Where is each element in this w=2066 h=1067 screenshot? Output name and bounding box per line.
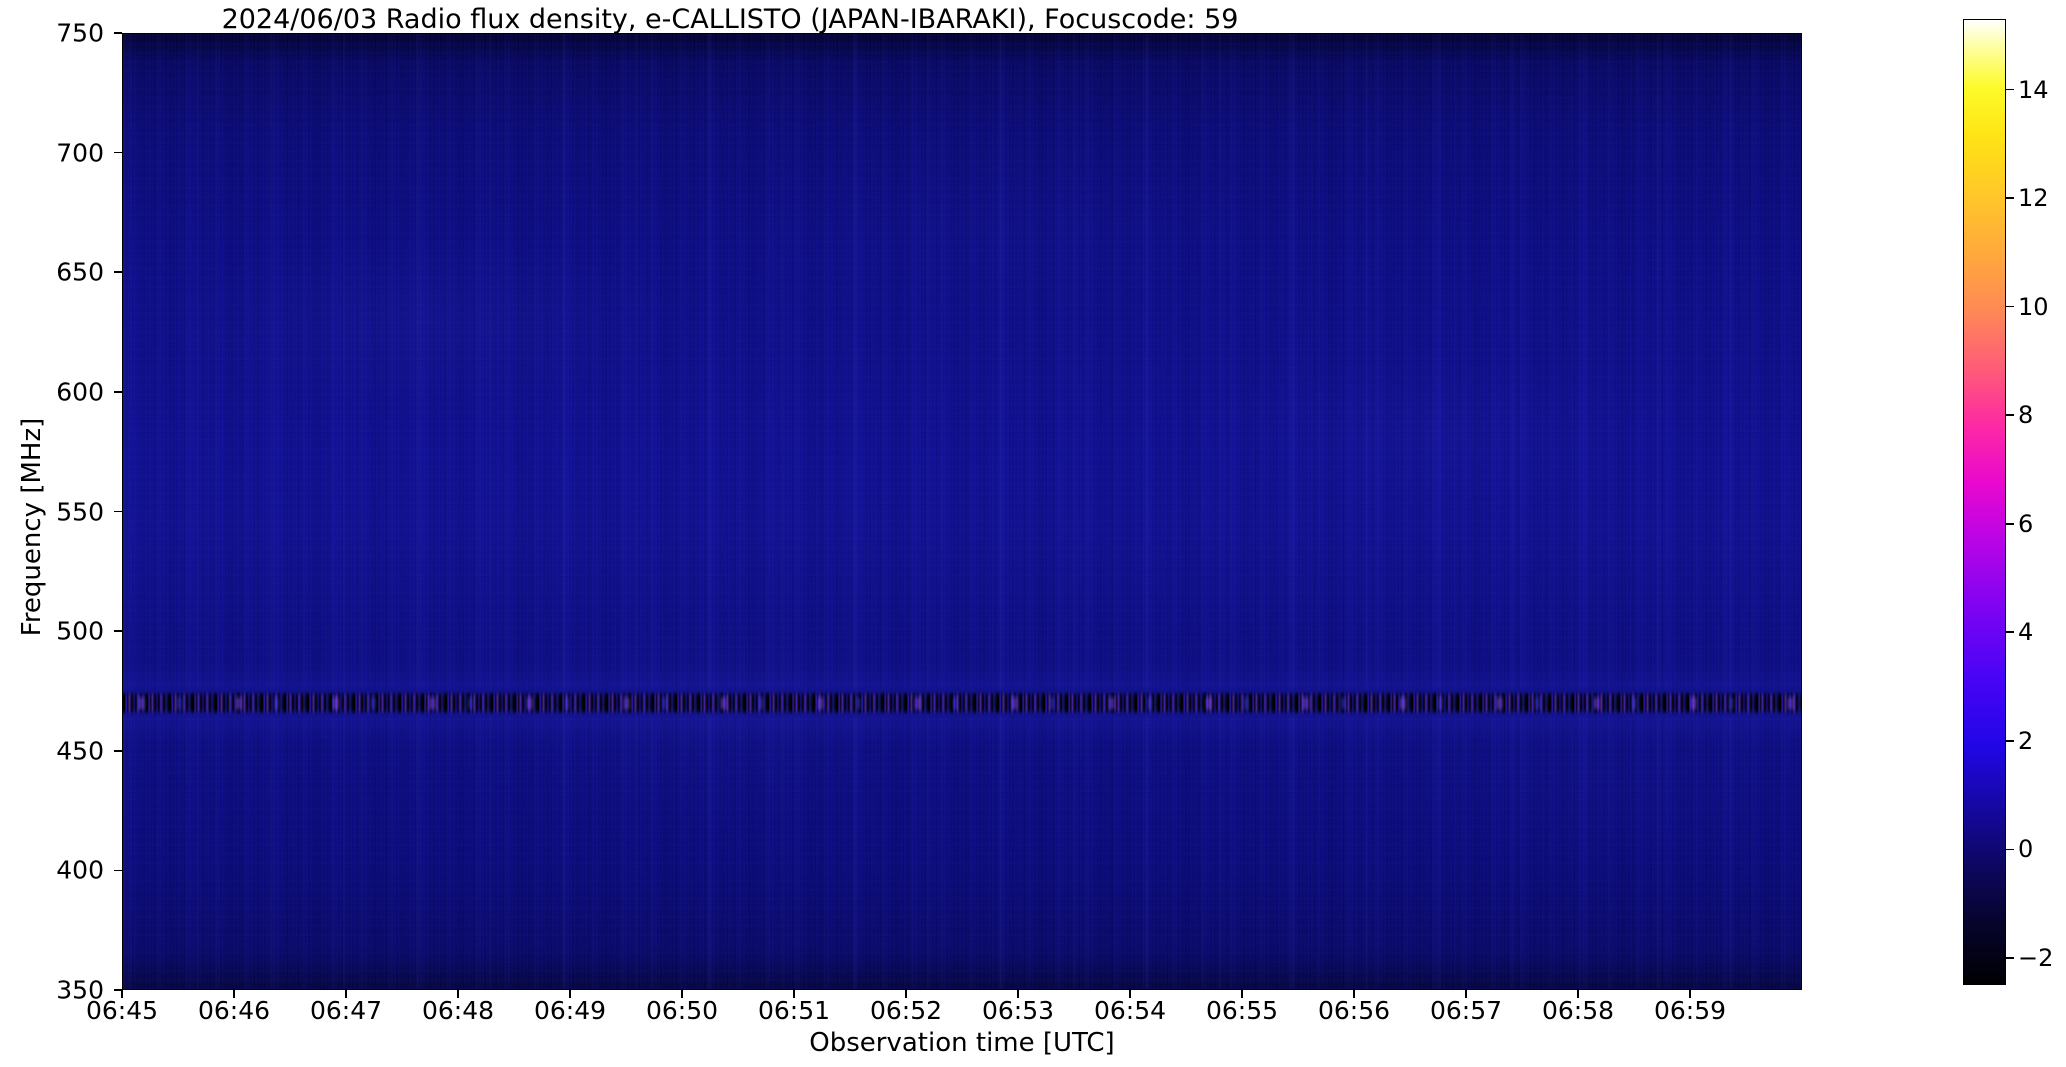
y-tick-mark [114, 870, 122, 872]
x-tick-mark [121, 990, 123, 998]
x-tick-mark [1465, 990, 1467, 998]
x-tick-mark [905, 990, 907, 998]
x-tick-mark [1017, 990, 1019, 998]
colorbar-tick-label: 14 [2018, 76, 2049, 104]
y-tick-label: 550 [0, 497, 104, 526]
y-tick-label: 650 [0, 258, 104, 287]
y-tick-mark [114, 271, 122, 273]
x-tick-label: 06:59 [1615, 996, 1765, 1025]
y-tick-label: 400 [0, 856, 104, 885]
colorbar-tick-label: 4 [2018, 618, 2033, 646]
colorbar-tick-mark [2006, 523, 2014, 525]
spectrogram-image [123, 34, 1801, 989]
colorbar-tick-label: 6 [2018, 510, 2033, 538]
colorbar-tick-mark [2006, 89, 2014, 91]
x-axis-label: Observation time [UTC] [122, 1028, 1802, 1058]
x-tick-mark [681, 990, 683, 998]
colorbar-tick-label: 10 [2018, 293, 2049, 321]
y-tick-label: 500 [0, 617, 104, 646]
colorbar-tick-label: 0 [2018, 835, 2033, 863]
colorbar-tick-mark [2006, 849, 2014, 851]
x-tick-mark [1129, 990, 1131, 998]
rfi-band-bright-knots [123, 694, 1801, 712]
x-tick-mark [569, 990, 571, 998]
colorbar-tick-mark [2006, 414, 2014, 416]
x-tick-mark [1353, 990, 1355, 998]
x-tick-mark [1689, 990, 1691, 998]
y-tick-mark [114, 152, 122, 154]
colorbar-tick-mark [2006, 306, 2014, 308]
x-tick-mark [345, 990, 347, 998]
x-tick-mark [793, 990, 795, 998]
y-tick-label: 450 [0, 736, 104, 765]
y-tick-mark [114, 32, 122, 34]
y-tick-mark [114, 750, 122, 752]
colorbar-tick-mark [2006, 197, 2014, 199]
page-title: 2024/06/03 Radio flux density, e-CALLIST… [0, 4, 1460, 35]
colorbar-gradient[interactable] [1963, 19, 2006, 985]
colorbar-tick-label: 8 [2018, 401, 2033, 429]
y-axis-label: Frequency [MHz] [17, 327, 47, 727]
x-tick-mark [1577, 990, 1579, 998]
x-tick-mark [233, 990, 235, 998]
y-tick-label: 700 [0, 138, 104, 167]
y-tick-label: 600 [0, 377, 104, 406]
colorbar-tick-label: 2 [2018, 727, 2033, 755]
colorbar-tick-mark [2006, 740, 2014, 742]
figure-canvas: 2024/06/03 Radio flux density, e-CALLIST… [0, 0, 2066, 1067]
colorbar-tick-mark [2006, 631, 2014, 633]
colorbar-tick-mark [2006, 957, 2014, 959]
colorbar-tick-label: −2 [2018, 944, 2053, 972]
x-tick-mark [1241, 990, 1243, 998]
y-tick-label: 750 [0, 19, 104, 48]
colorbar-tick-label: 12 [2018, 184, 2049, 212]
noise-horizontal-streaks [123, 34, 1801, 989]
y-tick-mark [114, 511, 122, 513]
x-tick-mark [457, 990, 459, 998]
y-tick-mark [114, 391, 122, 393]
spectrogram-axes[interactable] [122, 33, 1802, 990]
y-tick-mark [114, 630, 122, 632]
